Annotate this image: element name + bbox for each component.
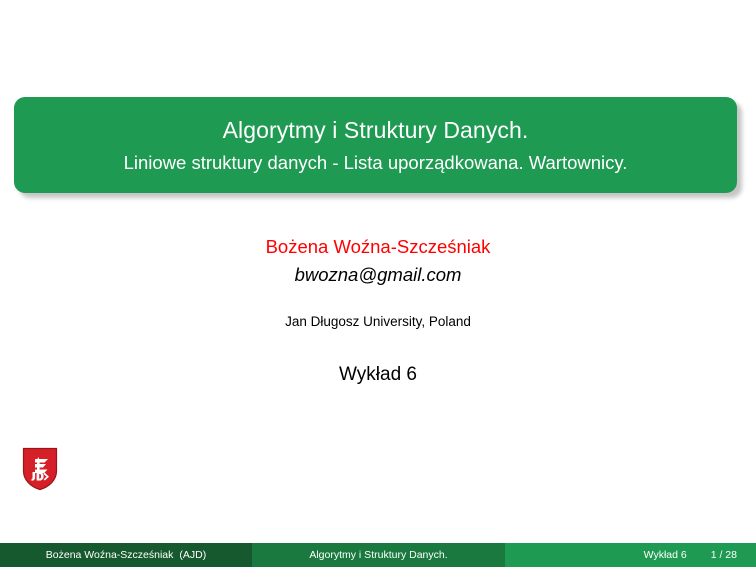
slide-footer: Bożena Woźna-Szcześniak (AJD) Algorytmy … (0, 543, 756, 567)
affiliation: Jan Długosz University, Poland (0, 313, 756, 331)
author-name: Bożena Woźna-Szcześniak (0, 234, 756, 259)
page-title: Algorytmy i Struktury Danych. (223, 115, 529, 145)
footer-author-name: Bożena Woźna-Szcześniak (46, 549, 174, 561)
university-logo (22, 447, 58, 491)
footer-author-affiliation: (AJD) (179, 549, 206, 561)
presentation-slide: Algorytmy i Struktury Danych. Liniowe st… (0, 0, 756, 567)
jan-dlugosz-university-shield-logo (22, 447, 58, 491)
title-banner: Algorytmy i Struktury Danych. Liniowe st… (14, 97, 737, 193)
footer-page-number: 1 / 28 (711, 549, 737, 561)
footer-lecture: Wykład 6 (644, 549, 687, 561)
footer-meta-segment: Wykład 6 1 / 28 (505, 543, 756, 567)
page-subtitle: Liniowe struktury danych - Lista uporząd… (124, 151, 628, 175)
footer-title: Algorytmy i Struktury Danych. (309, 549, 447, 561)
lecture-number: Wykład 6 (0, 362, 756, 388)
footer-title-segment: Algorytmy i Struktury Danych. (252, 543, 505, 567)
author-email: bwozna@gmail.com (0, 262, 756, 287)
footer-author-segment: Bożena Woźna-Szcześniak (AJD) (0, 543, 252, 567)
author-block: Bożena Woźna-Szcześniak bwozna@gmail.com (0, 234, 756, 287)
